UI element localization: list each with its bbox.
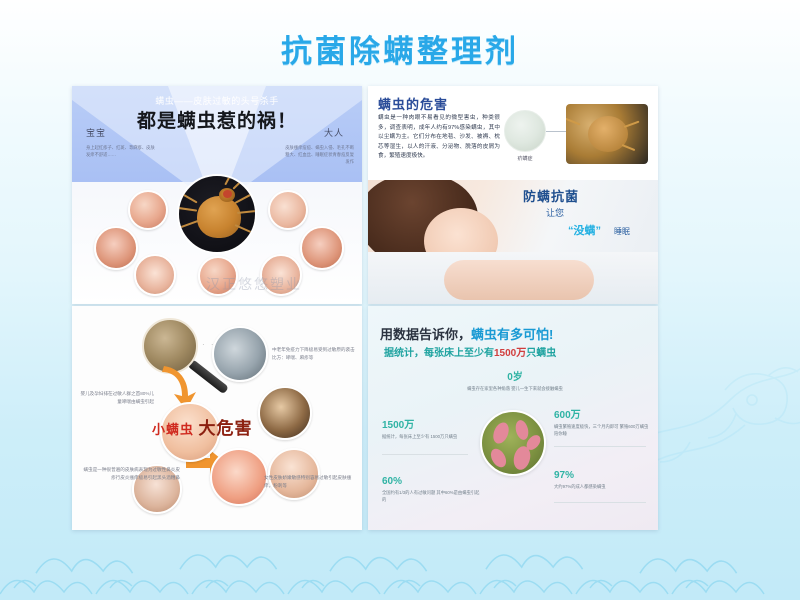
stat-97-percent: 97% 大约97%的成人都感染螨虫 bbox=[554, 470, 650, 490]
stat-60-percent: 60% 全国约有1/3的人有过敏问题 其中60%是由螨虫引起的 bbox=[382, 476, 482, 503]
stat-description: 全国约有1/3的人有过敏问题 其中60%是由螨虫引起的 bbox=[382, 489, 482, 503]
overlay-let-you: 让您 bbox=[546, 206, 564, 219]
panel4-heading: 用数据告诉你，螨虫有多可怕! bbox=[380, 324, 553, 343]
page-title: 抗菌除螨整理剂 bbox=[0, 26, 800, 71]
stat-divider-2 bbox=[554, 446, 646, 447]
adult-skin-photo-1 bbox=[268, 190, 308, 230]
baby-skin-photo-2 bbox=[94, 226, 138, 270]
stat-number: 1500万 bbox=[382, 416, 474, 431]
panel3-title-big: 大危害 bbox=[198, 419, 252, 438]
stat-number: 600万 bbox=[554, 406, 652, 421]
stat-description: 螨虫存在家里各种角落 婴儿一生下来就会接触螨虫 bbox=[460, 385, 570, 392]
label-adult: 大人 bbox=[324, 126, 344, 139]
subheading-suffix: 只螨虫 bbox=[526, 348, 556, 359]
panel4-subheading: 据统计，每张床上至少有1500万只螨虫 bbox=[384, 344, 556, 359]
overlay-no-mite: “没螨” bbox=[568, 222, 601, 238]
scabies-photo bbox=[504, 110, 546, 152]
panel-small-mite-big-harm: · · · · 小螨虫 大危害 婴儿及孕妇排在过敏人群之首80%儿童哮喘由螨虫引… bbox=[72, 306, 362, 530]
text-women-sensitive: 女性皮肤娇嫩敏感特别容易过敏引起皮肤瘙痒，粉刺等 bbox=[264, 474, 358, 490]
panel3-title: 小螨虫 大危害 bbox=[152, 414, 252, 439]
label-baby: 宝宝 bbox=[86, 126, 106, 139]
nose-closeup-photo bbox=[210, 448, 268, 506]
text-infants-pregnant: 婴儿及孕妇排在过敏人群之首80%儿童哮喘由螨虫引起 bbox=[80, 390, 154, 406]
panel3-title-small: 小螨虫 bbox=[152, 422, 194, 437]
stat-divider-1 bbox=[382, 454, 468, 455]
panel-mite-statistics: 用数据告诉你，螨虫有多可怕! 据统计，每张床上至少有1500万只螨虫 0岁 螨虫… bbox=[368, 306, 658, 530]
stat-description: 螨虫繁殖速度极快，三个月内即可 繁殖600万螨虫陪你睡 bbox=[554, 423, 652, 437]
panel4-heading-plain: 用数据告诉你， bbox=[380, 327, 471, 342]
mite-closeup-image bbox=[177, 174, 257, 254]
panel2-body-text: 螨虫是一种肉眼不易看见的微型害虫，种类很多，调查表明，成年人约有97%感染螨虫，… bbox=[378, 114, 500, 162]
stat-description: 大约97%的成人都感染螨虫 bbox=[554, 483, 650, 490]
overlay-antimite-title: 防螨抗菌 bbox=[523, 186, 579, 205]
photo-caption: 疥螨症 bbox=[502, 155, 548, 162]
text-skin-disease: 螨虫是一种很普遍的皮肤病表现为过敏性鼻炎皮疹行皮炎瘙痒极易引起黑头酒糟鼻 bbox=[80, 466, 180, 482]
bacteria-microscope-photo bbox=[480, 410, 546, 476]
stat-divider-3 bbox=[554, 502, 646, 503]
stat-number: 0岁 bbox=[460, 368, 570, 383]
adult-skin-photo-2 bbox=[300, 226, 344, 270]
panel1-main-title: 都是螨虫惹的祸！ bbox=[72, 106, 362, 133]
panel-mite-harm: 螨虫的危害 螨虫是一种肉眼不易看见的微型害虫，种类很多，调查表明，成年人约有97… bbox=[368, 86, 658, 304]
watermark-text: 汉正悠悠塑业 bbox=[144, 274, 362, 294]
stat-6-million: 600万 螨虫繁殖速度极快，三个月内即可 繁殖600万螨虫陪你睡 bbox=[554, 406, 652, 437]
stat-0-years: 0岁 螨虫存在家里各种角落 婴儿一生下来就会接触螨虫 bbox=[460, 368, 570, 392]
panel2-title: 螨虫的危害 bbox=[378, 94, 448, 113]
panel4-heading-accent: 螨虫有多可怕! bbox=[471, 327, 553, 342]
desc-adult: 皮肤瘙痒痘痘、螨虫入侵、毛孔不断粗大、红血丝、睡眠症状青春痘反复发作 bbox=[282, 144, 354, 165]
stat-15-million: 1500万 据统计，每张床上至少有 1500万只螨虫 bbox=[382, 416, 474, 440]
coughing-man-photo bbox=[258, 386, 312, 440]
baby-skin-photo-1 bbox=[128, 190, 168, 230]
stat-number: 60% bbox=[382, 476, 482, 487]
mite-microscope-photo bbox=[566, 104, 648, 164]
overlay-sleep: 睡眠 bbox=[614, 226, 630, 237]
stat-number: 97% bbox=[554, 470, 650, 481]
woman-sleeping-photo bbox=[368, 180, 658, 304]
subheading-prefix: 据统计，每张床上至少有 bbox=[384, 348, 494, 359]
stat-description: 据统计，每张床上至少有 1500万只螨虫 bbox=[382, 433, 474, 440]
subheading-number: 1500万 bbox=[494, 348, 526, 359]
elderly-group-photo bbox=[212, 326, 268, 382]
panel-mite-killer: 螨虫——皮肤过敏的头号杀手 都是螨虫惹的祸！ 宝宝 身上起红疹子、红斑、荨麻疹、… bbox=[72, 86, 362, 304]
connector-line bbox=[546, 131, 568, 132]
text-elderly-immunity: 中老年免疫力下降极易受到过敏原的袭击比方：哮喘、麻疹等 bbox=[272, 346, 358, 362]
desc-baby: 身上起红疹子、红斑、荨麻疹、皮肤发痒不舒适…… bbox=[86, 144, 156, 158]
